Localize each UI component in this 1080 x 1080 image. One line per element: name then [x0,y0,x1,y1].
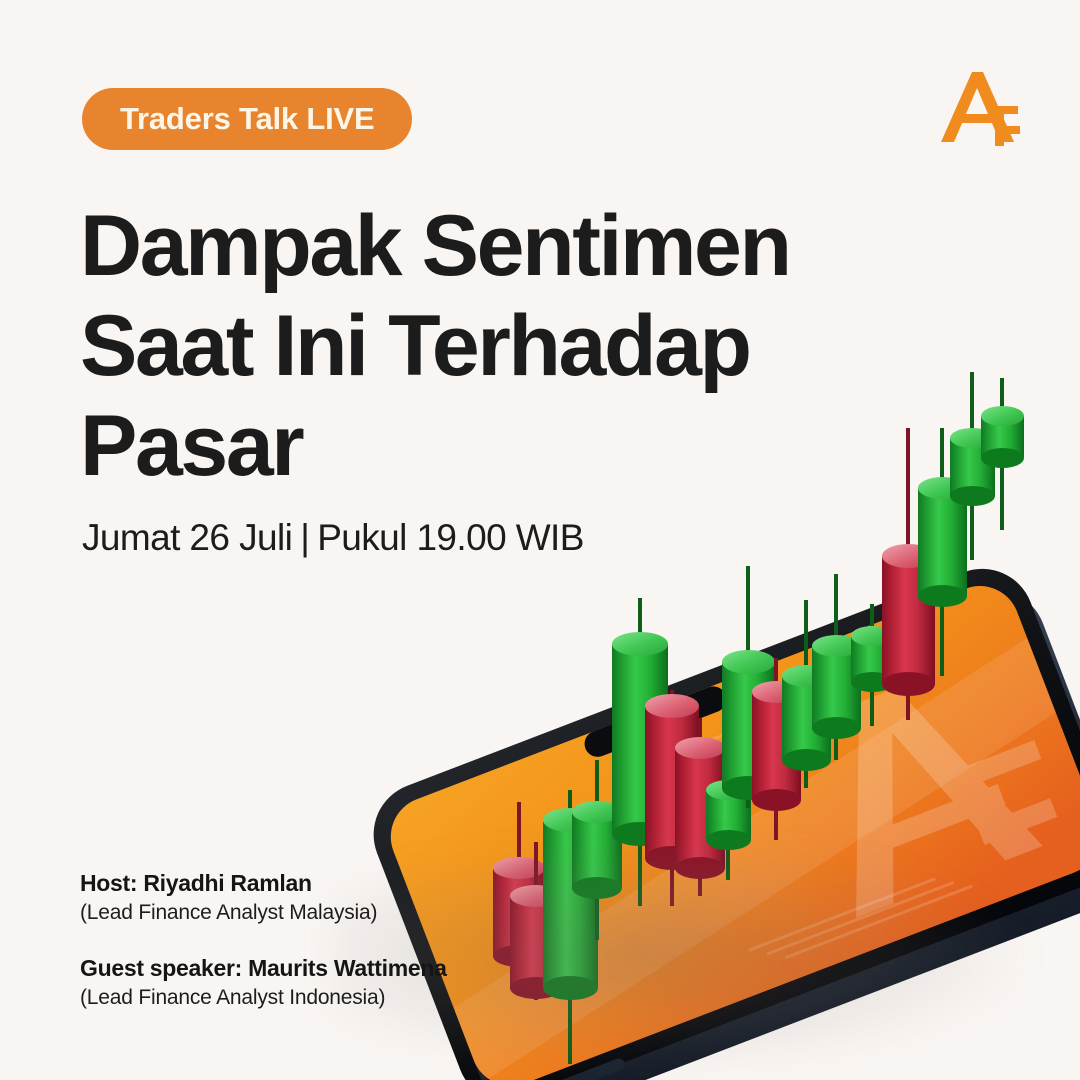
guest-role: (Lead Finance Analyst Indonesia) [80,983,447,1012]
poster-canvas: Traders Talk LIVE Dampak Sentimen Saat I… [0,0,1080,1080]
host-role: (Lead Finance Analyst Malaysia) [80,898,447,927]
brand-a-monogram-icon [938,68,1022,154]
headline-line-2: Saat Ini Terhadap [80,296,840,396]
live-badge[interactable]: Traders Talk LIVE [82,88,412,150]
headline-line-3: Pasar [80,396,840,496]
event-datetime: Jumat 26 Juli|Pukul 19.00 WIB [82,517,584,559]
event-date: Jumat 26 Juli [82,517,292,558]
headline-line-1: Dampak Sentimen [80,196,840,296]
host-name: Host: Riyadhi Ramlan [80,868,447,898]
guest-entry: Guest speaker: Maurits Wattimena (Lead F… [80,953,447,1012]
speakers-block: Host: Riyadhi Ramlan (Lead Finance Analy… [80,868,447,1038]
host-entry: Host: Riyadhi Ramlan (Lead Finance Analy… [80,868,447,927]
event-time: Pukul 19.00 WIB [317,517,584,558]
page-title: Dampak Sentimen Saat Ini Terhadap Pasar [80,196,840,496]
datetime-separator: | [292,517,317,558]
guest-name: Guest speaker: Maurits Wattimena [80,953,447,983]
